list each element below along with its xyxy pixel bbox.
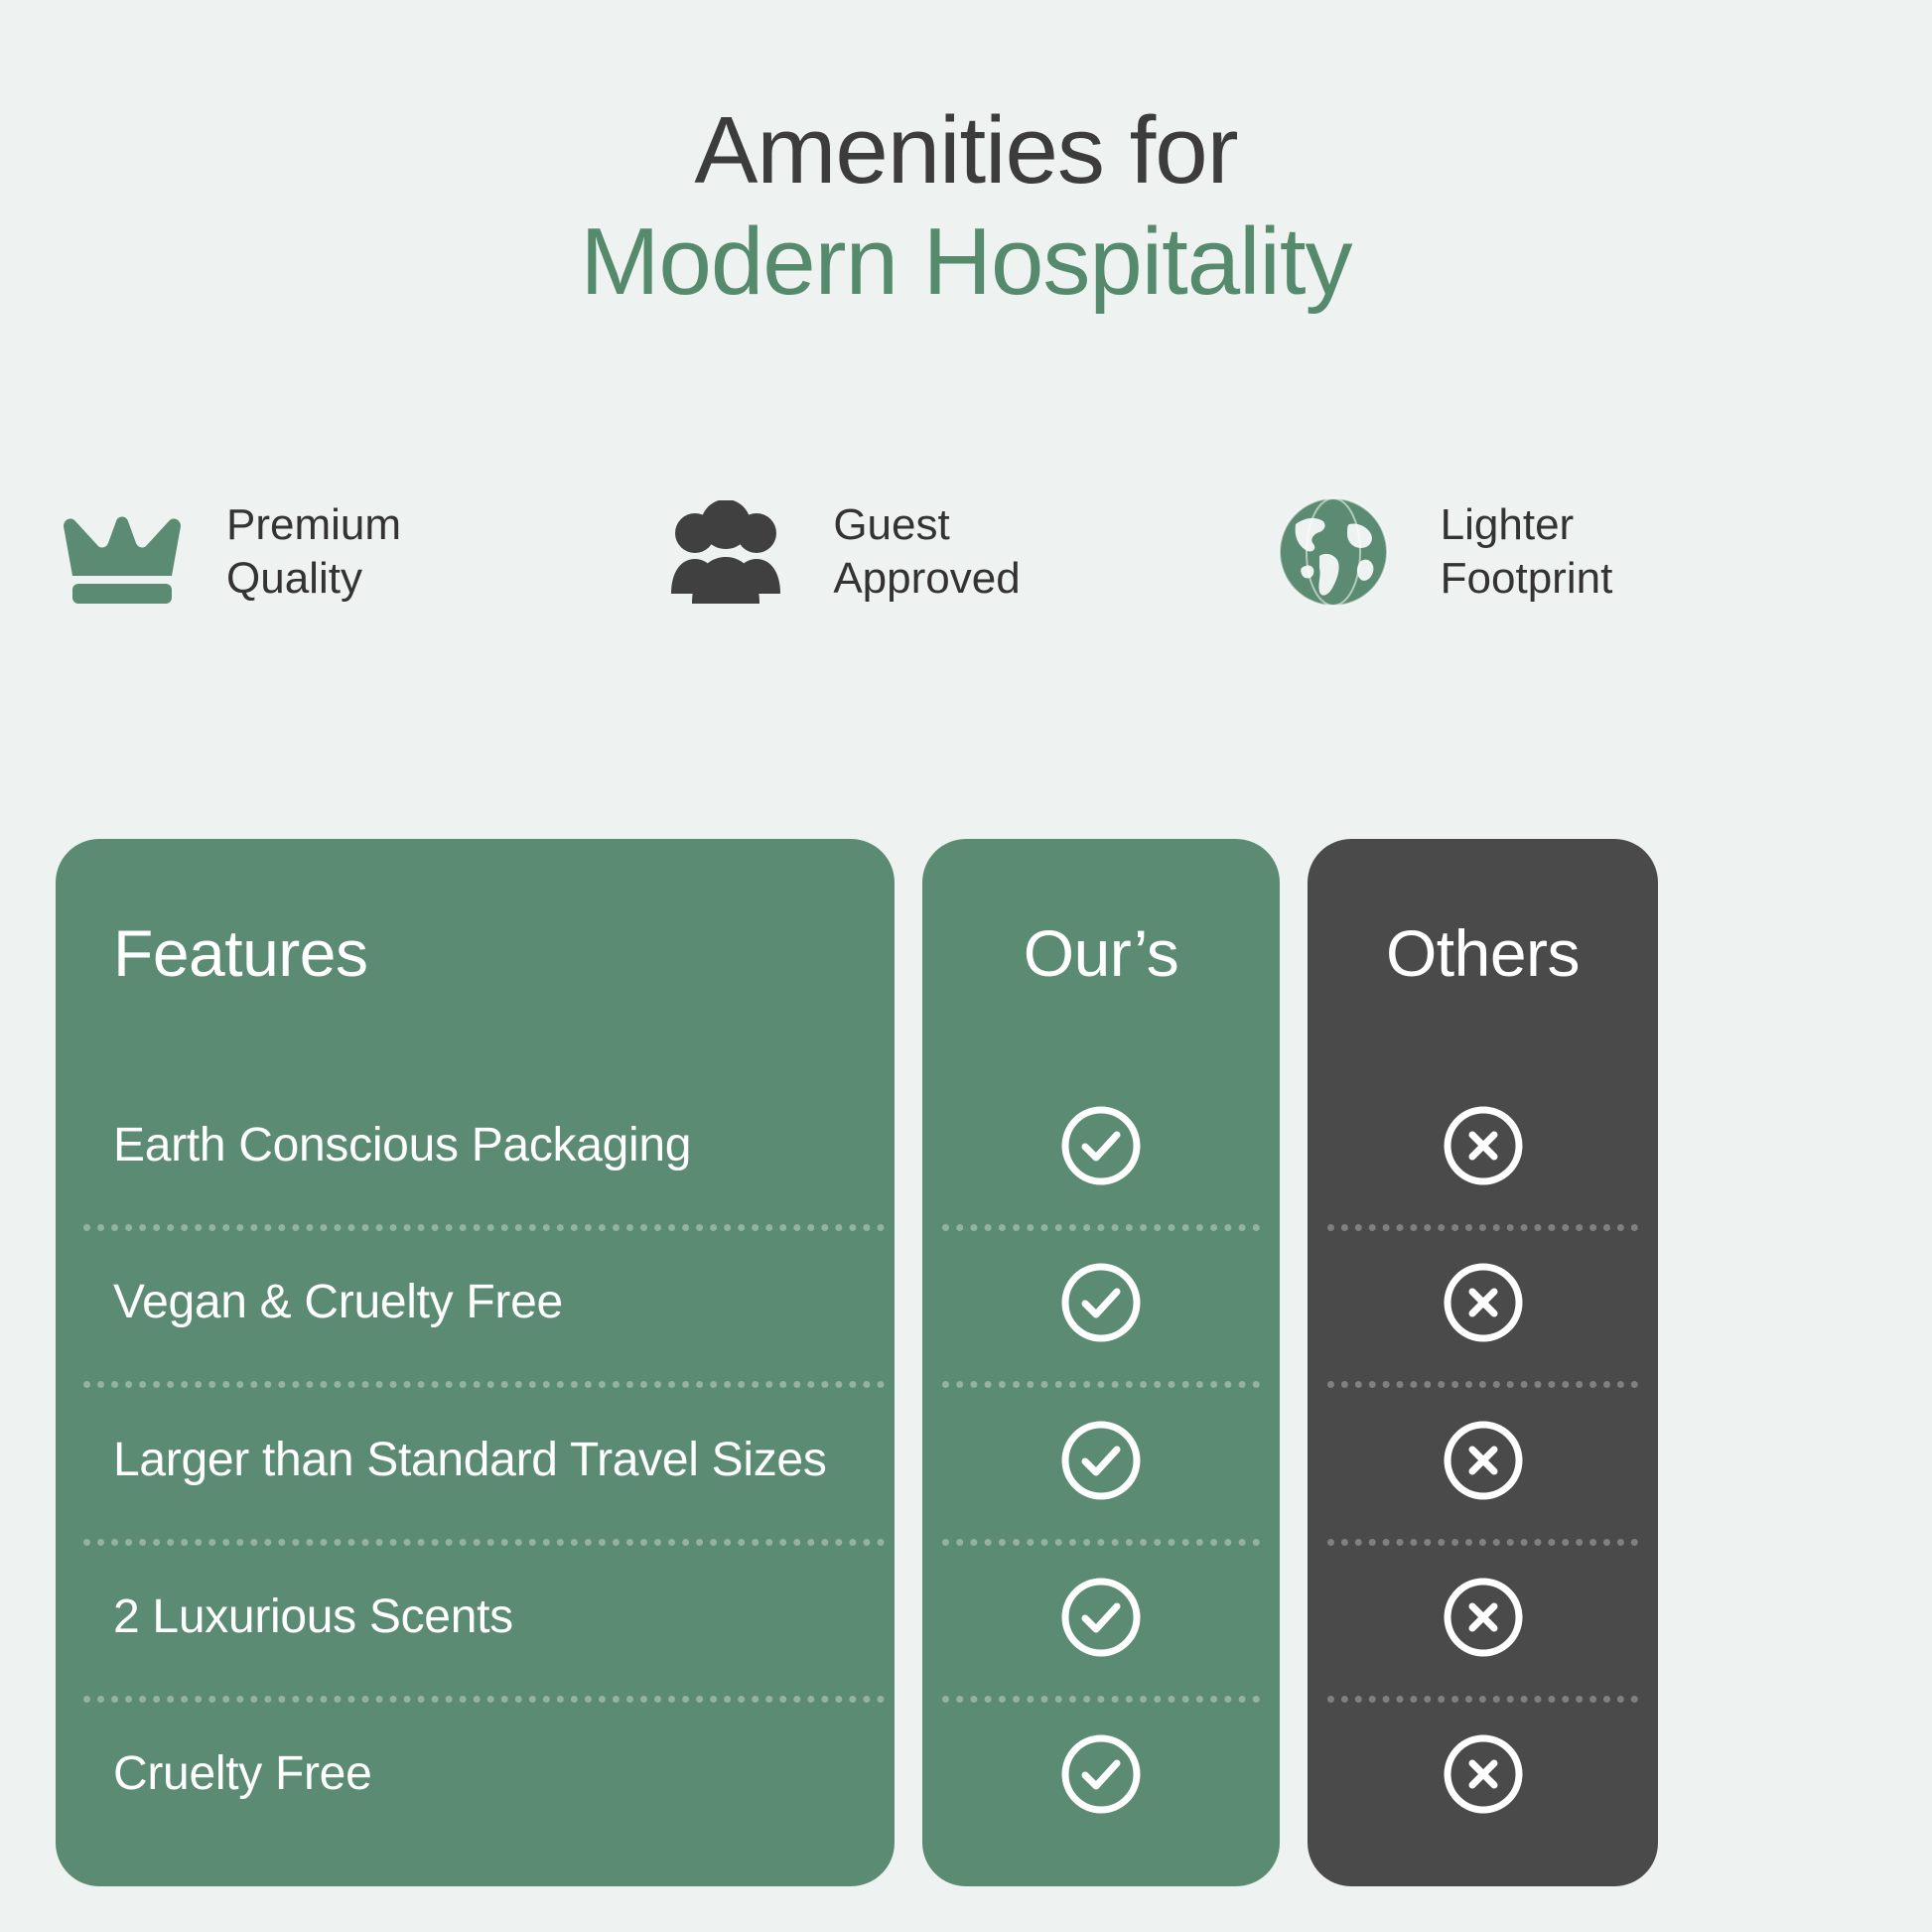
others-header-label: Others — [1386, 918, 1580, 988]
badge-lighter-footprint: Lighter Footprint — [1270, 496, 1876, 608]
features-header-label: Features — [113, 918, 367, 988]
table-row — [922, 1539, 1280, 1696]
table-row: Cruelty Free — [56, 1696, 895, 1853]
feature-label: Cruelty Free — [113, 1746, 371, 1802]
table-row — [1308, 1539, 1658, 1696]
table-row: 2 Luxurious Scents — [56, 1539, 895, 1696]
check-circle-icon — [1059, 1261, 1143, 1344]
others-column-header: Others — [1308, 839, 1658, 1067]
cross-circle-icon — [1442, 1732, 1525, 1816]
badge-label: Guest Approved — [833, 498, 1020, 606]
table-row: Larger than Standard Travel Sizes — [56, 1381, 895, 1538]
badge-label: Lighter Footprint — [1441, 498, 1613, 606]
comparison-table: Features Earth Conscious Packaging Vegan… — [56, 839, 1876, 1886]
check-circle-icon — [1059, 1576, 1143, 1659]
globe-icon — [1270, 496, 1397, 608]
crown-icon — [56, 496, 183, 608]
badge-premium-quality: Premium Quality — [56, 496, 662, 608]
ours-row-list — [922, 1067, 1280, 1886]
feature-label: 2 Luxurious Scents — [113, 1589, 513, 1645]
features-row-list: Earth Conscious Packaging Vegan & Cruelt… — [56, 1067, 895, 1886]
table-row: Vegan & Cruelty Free — [56, 1224, 895, 1381]
cross-circle-icon — [1442, 1419, 1525, 1502]
table-row — [922, 1381, 1280, 1538]
people-group-icon — [662, 496, 789, 608]
feature-label: Vegan & Cruelty Free — [113, 1275, 563, 1330]
table-row — [1308, 1224, 1658, 1381]
badge-label: Premium Quality — [226, 498, 401, 606]
table-row — [1308, 1381, 1658, 1538]
check-circle-icon — [1059, 1419, 1143, 1502]
cross-circle-icon — [1442, 1104, 1525, 1187]
page-title: Amenities for Modern Hospitality — [0, 95, 1932, 318]
check-circle-icon — [1059, 1104, 1143, 1187]
value-proposition-badges: Premium Quality Guest Approved — [56, 496, 1876, 608]
table-row: Earth Conscious Packaging — [56, 1067, 895, 1224]
cross-circle-icon — [1442, 1576, 1525, 1659]
table-row — [922, 1696, 1280, 1853]
ours-column: Our’s — [922, 839, 1280, 1886]
check-circle-icon — [1059, 1732, 1143, 1816]
ours-header-label: Our’s — [1024, 918, 1178, 988]
feature-label: Earth Conscious Packaging — [113, 1118, 691, 1173]
features-column-header: Features — [56, 839, 895, 1067]
features-column: Features Earth Conscious Packaging Vegan… — [56, 839, 895, 1886]
ours-column-header: Our’s — [922, 839, 1280, 1067]
others-row-list — [1308, 1067, 1658, 1886]
table-row — [1308, 1067, 1658, 1224]
badge-guest-approved: Guest Approved — [662, 496, 1269, 608]
cross-circle-icon — [1442, 1261, 1525, 1344]
title-line-1: Amenities for — [0, 95, 1932, 207]
feature-label: Larger than Standard Travel Sizes — [113, 1433, 827, 1488]
others-column: Others — [1308, 839, 1658, 1886]
table-row — [1308, 1696, 1658, 1853]
table-row — [922, 1224, 1280, 1381]
title-line-2: Modern Hospitality — [0, 207, 1932, 318]
table-row — [922, 1067, 1280, 1224]
